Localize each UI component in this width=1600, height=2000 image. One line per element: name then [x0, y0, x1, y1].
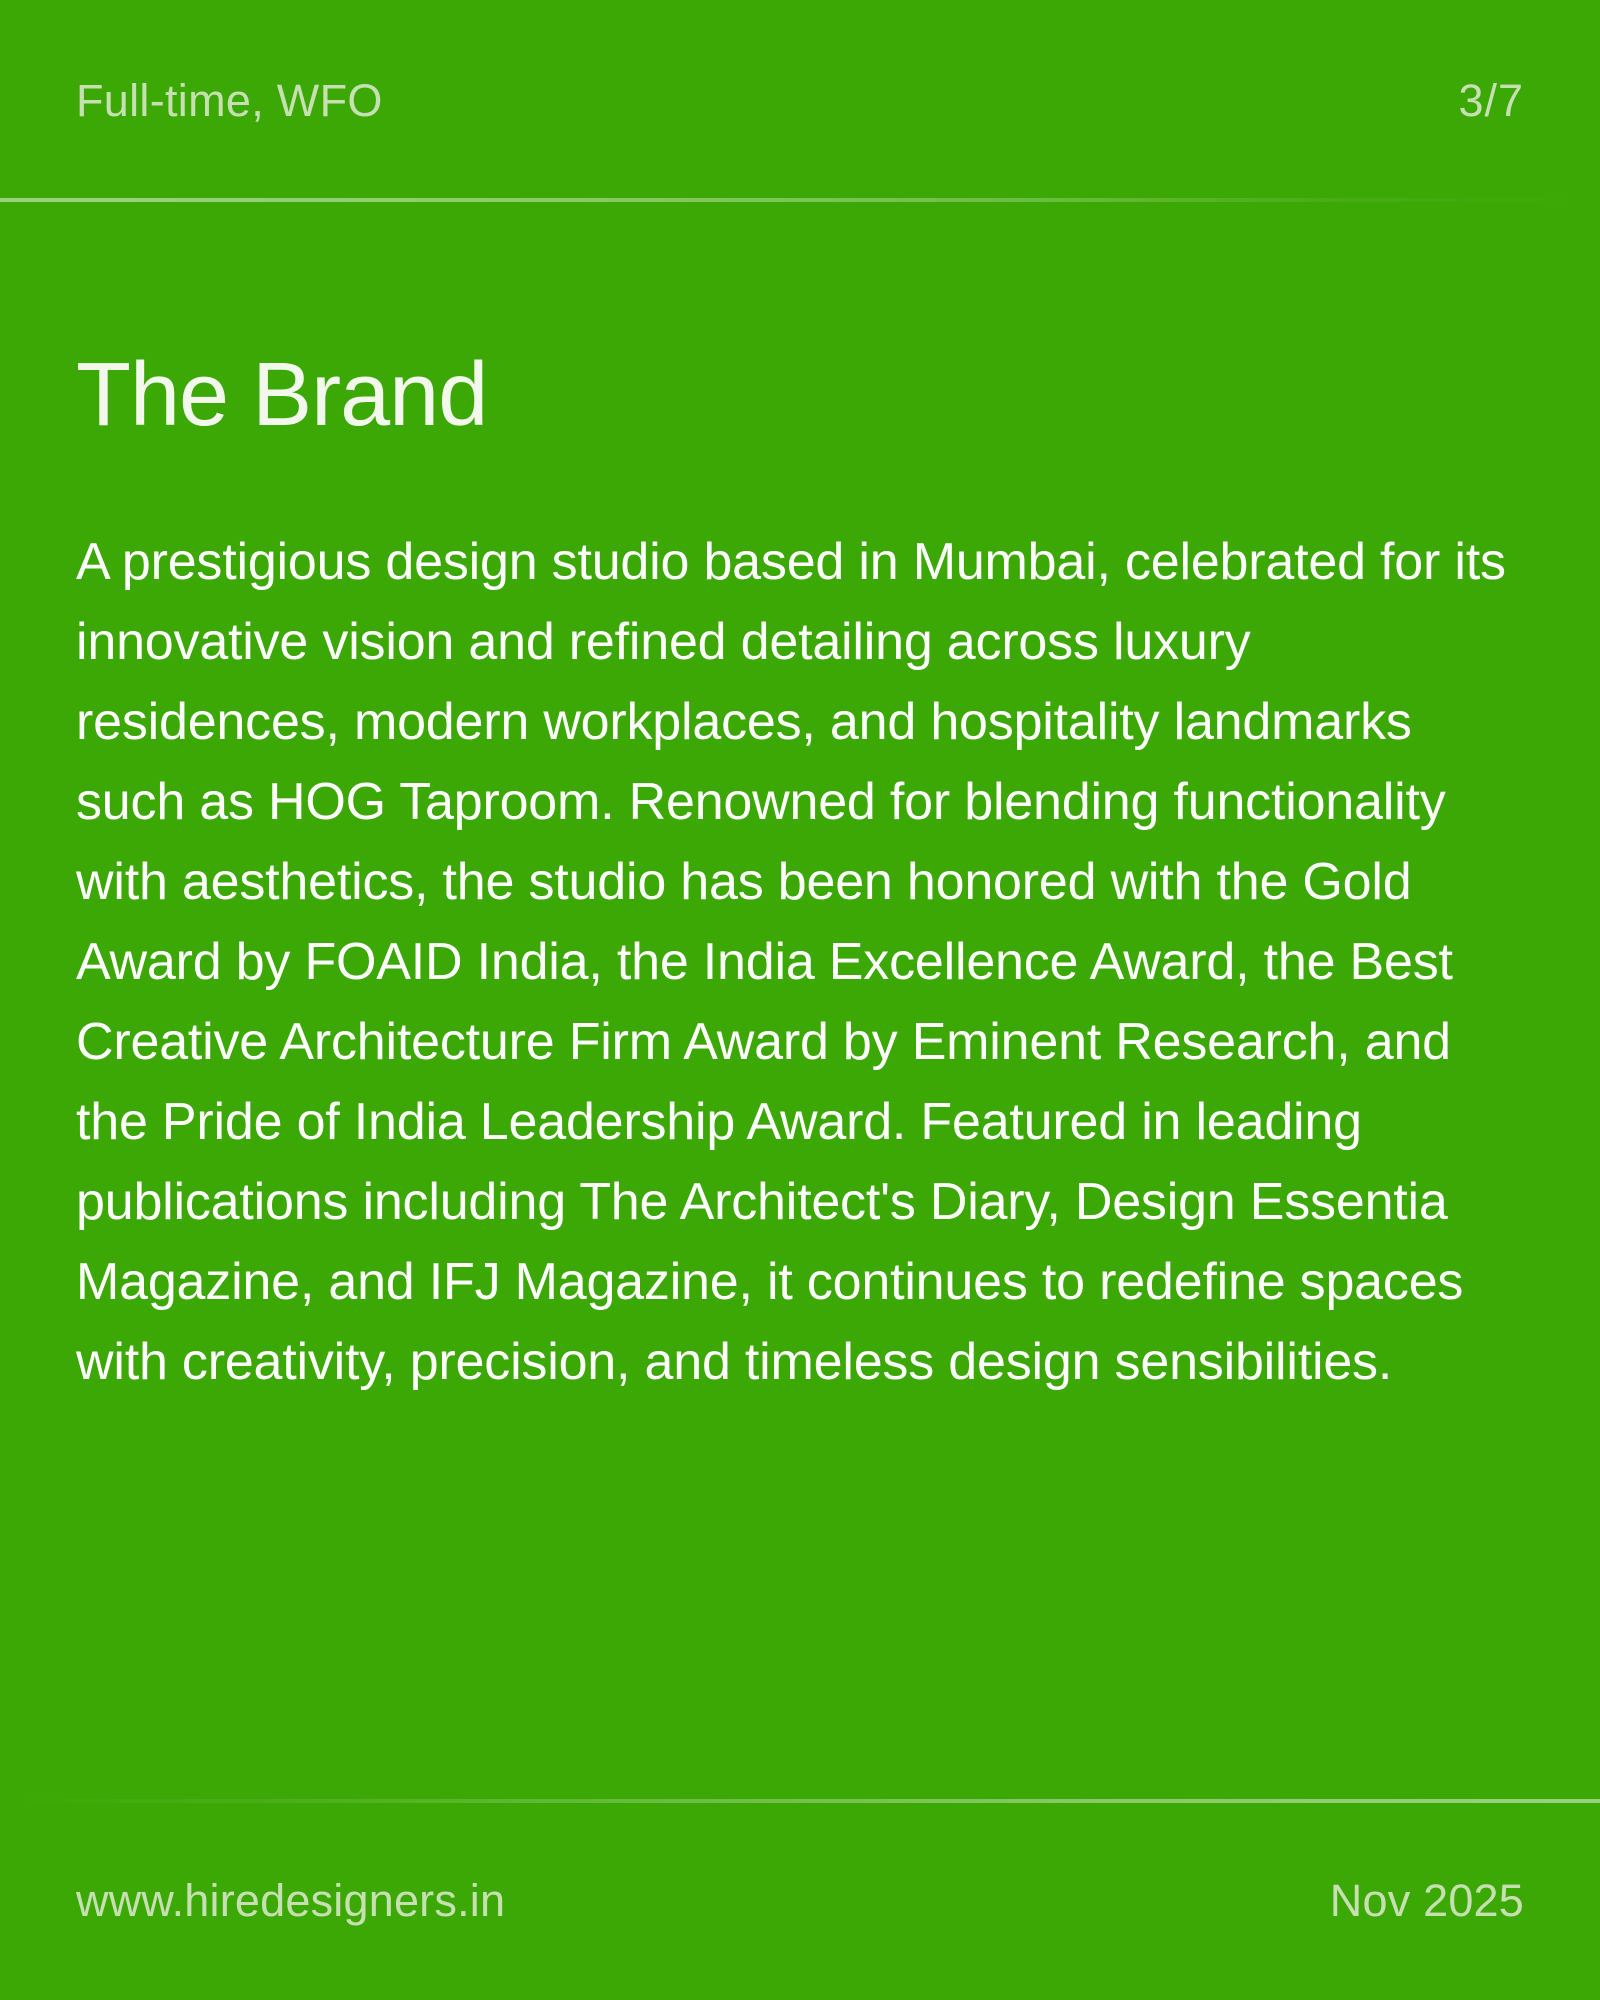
- employment-type-label: Full-time, WFO: [76, 78, 383, 123]
- website-link[interactable]: www.hiredesigners.in: [76, 1878, 505, 1923]
- slide-counter: 3/7: [1458, 78, 1524, 123]
- page-title: The Brand: [76, 350, 487, 440]
- publish-date-label: Nov 2025: [1330, 1878, 1524, 1923]
- card-footer: www.hiredesigners.in Nov 2025: [0, 1800, 1600, 2000]
- hiring-slide-card: Full-time, WFO 3/7 The Brand A prestigio…: [0, 0, 1600, 2000]
- card-header: Full-time, WFO 3/7: [0, 0, 1600, 200]
- brand-description-paragraph: A prestigious design studio based in Mum…: [76, 522, 1524, 1402]
- card-main-content: The Brand A prestigious design studio ba…: [0, 200, 1600, 1800]
